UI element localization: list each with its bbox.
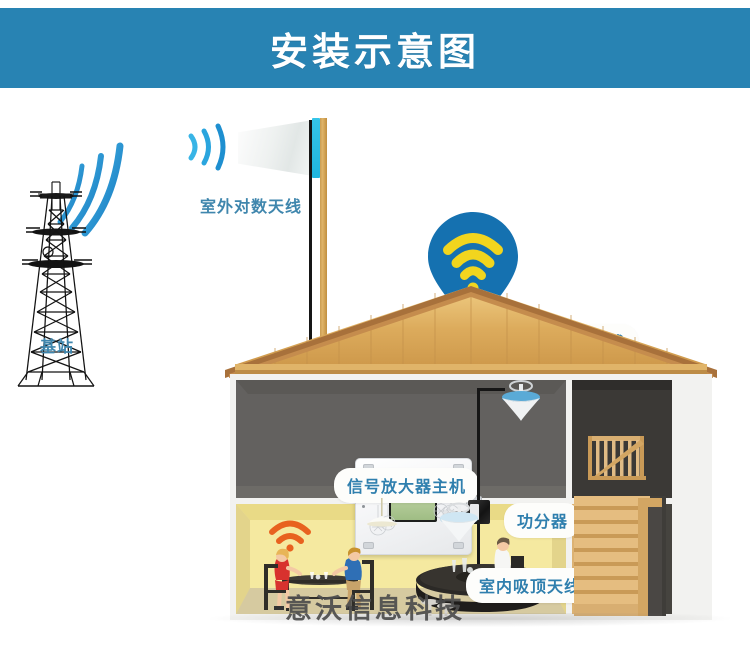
- splitter-up-cable: [477, 388, 480, 500]
- diagram-canvas: 基站 室外对数天线: [0, 88, 750, 652]
- signal-arc-group: [60, 146, 120, 233]
- watermark-text: 意沃信息科技: [0, 587, 750, 626]
- base-station-tower: [8, 136, 158, 396]
- outdoor-log-periodic-antenna: [238, 120, 313, 176]
- tower-svg: [8, 136, 158, 396]
- ceiling-antenna-upper: [498, 380, 544, 420]
- outdoor-antenna-signal-arcs: [178, 116, 238, 178]
- house-roof: [225, 286, 717, 378]
- cafe-wifi-icon: [272, 524, 308, 542]
- base-station-label: 基站: [40, 333, 74, 357]
- page-title: 安装示意图: [270, 21, 480, 76]
- installation-diagram-page: 安装示意图: [0, 0, 750, 652]
- staircase-section: [566, 378, 712, 618]
- outdoor-antenna-label: 室外对数天线: [200, 193, 302, 217]
- page-header-banner: 安装示意图: [0, 8, 750, 88]
- cafe-pendant-lamp: [367, 498, 397, 527]
- cafe-glassware: [310, 572, 328, 579]
- antenna-cyan-cap: [312, 118, 320, 178]
- upper-railing: [588, 436, 646, 480]
- ceiling-antenna-lower: [440, 504, 478, 543]
